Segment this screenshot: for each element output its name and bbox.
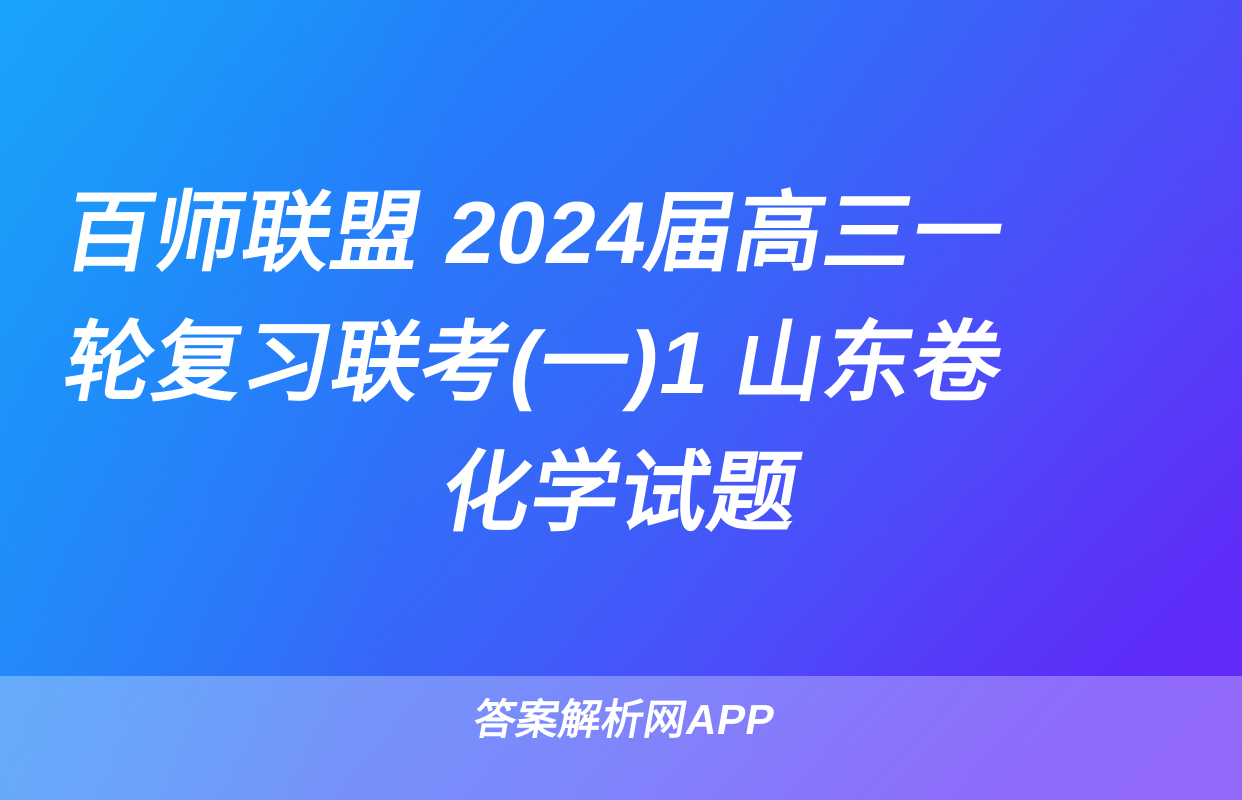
watermark-band: 答案解析网APP [0, 676, 1242, 800]
exam-title-line-2: 轮复习联考(一)1 山东卷 [27, 298, 1216, 428]
exam-title-line-1: 百师联盟 2024届高三一 [27, 168, 1216, 298]
exam-title-block: 百师联盟 2024届高三一 轮复习联考(一)1 山东卷 化学试题 [0, 168, 1242, 559]
watermark-label: 答案解析网APP [470, 699, 778, 741]
exam-cover-card: 百师联盟 2024届高三一 轮复习联考(一)1 山东卷 化学试题 答案解析网AP… [0, 0, 1242, 800]
exam-title-line-3: 化学试题 [41, 428, 1202, 558]
